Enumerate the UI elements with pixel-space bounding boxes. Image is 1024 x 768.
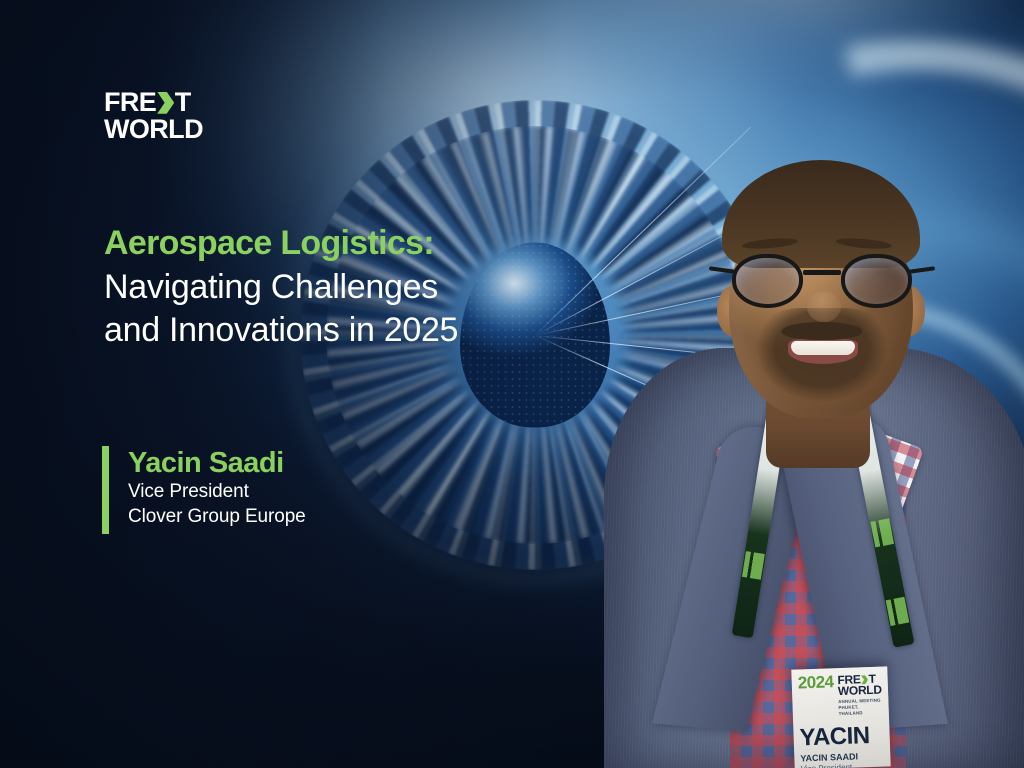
conference-badge: 2024 FRE T WORLD ANNUAL MEETING PHUKET, … xyxy=(791,666,890,768)
headline-line-2: Navigating Challenges xyxy=(104,266,458,310)
speaker-name: Yacin Saadi xyxy=(128,446,306,480)
logo-line2: WORLD xyxy=(104,117,203,142)
badge-logo: FRE T WORLD ANNUAL MEETING PHUKET, THAIL… xyxy=(837,674,883,717)
logo-line1: FRE T xyxy=(104,90,203,115)
eyeglasses-icon xyxy=(732,254,912,308)
speaker-details: Yacin Saadi Vice President Clover Group … xyxy=(128,446,306,534)
chevron-right-icon xyxy=(157,92,174,114)
eyeglass-bridge xyxy=(803,270,841,275)
badge-name-large: YACIN xyxy=(799,724,884,751)
headline-line-3: and Innovations in 2025 xyxy=(104,309,458,353)
lanyard-logo-mark xyxy=(742,551,765,580)
badge-subtitle-line2: PHUKET, THAILAND xyxy=(838,704,883,717)
lanyard-logo-mark xyxy=(886,597,910,626)
speaker-announcement-card: 2024 FRE T WORLD ANNUAL MEETING PHUKET, … xyxy=(0,0,1024,768)
speaker-info-block: Yacin Saadi Vice President Clover Group … xyxy=(102,446,306,534)
eyeglass-temple-right xyxy=(909,266,935,274)
logo-text-pre: FRE xyxy=(104,90,156,115)
freyt-world-logo[interactable]: FRE T WORLD xyxy=(104,90,203,143)
eyeglass-lens-left xyxy=(732,254,803,308)
mouth xyxy=(788,339,858,364)
eyeglass-temple-left xyxy=(709,266,735,274)
teeth xyxy=(791,341,855,355)
hair xyxy=(722,160,920,268)
speaker-photo: 2024 FRE T WORLD ANNUAL MEETING PHUKET, … xyxy=(554,0,1024,768)
badge-logo-line2: WORLD xyxy=(838,685,883,698)
badge-header: 2024 FRE T WORLD ANNUAL MEETING PHUKET, … xyxy=(798,674,883,718)
eyeglass-lens-right xyxy=(841,254,912,308)
speaker-role: Vice President xyxy=(128,480,306,505)
headline-block: Aerospace Logistics: Navigating Challeng… xyxy=(104,222,458,353)
headline-line-1: Aerospace Logistics: xyxy=(104,222,458,266)
speaker-organization: Clover Group Europe xyxy=(128,505,306,530)
accent-bar xyxy=(102,446,109,534)
mustache xyxy=(782,322,862,340)
badge-year: 2024 xyxy=(798,675,834,691)
logo-text-post: T xyxy=(175,90,191,115)
lanyard-logo-mark xyxy=(870,518,894,547)
